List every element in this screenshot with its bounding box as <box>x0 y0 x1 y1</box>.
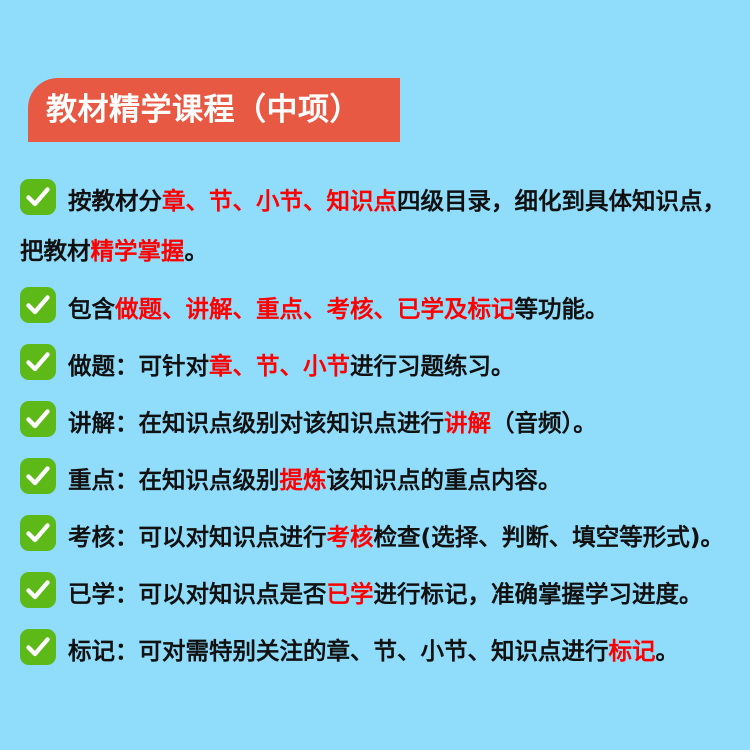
promo-card: 教材精学课程（中项） 按教材分章、节、小节、知识点四级目录，细化到具体知识点，把… <box>0 0 750 750</box>
check-icon <box>20 458 56 494</box>
check-icon <box>20 515 56 551</box>
list-item-text-line2: 把教材精学掌握。 <box>20 226 742 276</box>
list-item-text: 包含做题、讲解、重点、考核、已学及标记等功能。 <box>68 284 742 334</box>
body-text: 该知识点的重点内容。 <box>327 466 562 494</box>
highlight-text: 讲解 <box>444 409 491 437</box>
body-text: 。 <box>185 237 209 265</box>
feature-list: 按教材分章、节、小节、知识点四级目录，细化到具体知识点，把教材精学掌握。包含做题… <box>0 176 750 683</box>
highlight-text: 提炼 <box>280 466 327 494</box>
check-icon <box>20 179 56 215</box>
list-item-text: 考核：可以对知识点进行考核检查(选择、判断、填空等形式)。 <box>68 512 742 562</box>
list-item: 按教材分章、节、小节、知识点四级目录，细化到具体知识点，把教材精学掌握。 <box>0 176 750 284</box>
list-item: 包含做题、讲解、重点、考核、已学及标记等功能。 <box>0 284 750 341</box>
check-icon <box>20 287 56 323</box>
body-text: 。 <box>656 637 680 665</box>
check-icon <box>20 344 56 380</box>
list-item: 做题：可针对章、节、小节进行习题练习。 <box>0 341 750 398</box>
highlight-text: 精学掌握 <box>91 237 185 265</box>
list-item: 标记：可对需特别关注的章、节、小节、知识点进行标记。 <box>0 626 750 683</box>
highlight-text: 考核 <box>327 523 374 551</box>
body-text: 讲解：在知识点级别对该知识点进行 <box>68 409 444 437</box>
list-item-text: 做题：可针对章、节、小节进行习题练习。 <box>68 341 742 391</box>
highlight-text: 章、节、小节、知识点 <box>162 187 397 215</box>
body-text: 检查(选择、判断、填空等形式)。 <box>374 523 724 551</box>
list-item-text: 重点：在知识点级别提炼该知识点的重点内容。 <box>68 455 742 505</box>
body-text: 按教材分 <box>68 187 162 215</box>
list-item-text: 已学：可以对知识点是否已学进行标记，准确掌握学习进度。 <box>68 569 742 619</box>
list-item-text: 标记：可对需特别关注的章、节、小节、知识点进行标记。 <box>68 626 742 676</box>
list-item: 已学：可以对知识点是否已学进行标记，准确掌握学习进度。 <box>0 569 750 626</box>
body-text: 四级目录，细化到具体知识点， <box>397 187 726 215</box>
body-text: 等功能。 <box>515 295 609 323</box>
body-text: 把教材 <box>20 237 91 265</box>
body-text: 包含 <box>68 295 115 323</box>
list-item-text: 讲解：在知识点级别对该知识点进行讲解（音频）。 <box>68 398 742 448</box>
check-icon <box>20 572 56 608</box>
body-text: （音频）。 <box>491 409 597 437</box>
highlight-text: 章、节、小节 <box>209 352 350 380</box>
check-icon <box>20 401 56 437</box>
list-item: 重点：在知识点级别提炼该知识点的重点内容。 <box>0 455 750 512</box>
list-item: 考核：可以对知识点进行考核检查(选择、判断、填空等形式)。 <box>0 512 750 569</box>
highlight-text: 做题、讲解、重点、考核、已学及标记 <box>115 295 515 323</box>
body-text: 进行习题练习。 <box>350 352 515 380</box>
highlight-text: 标记 <box>609 637 656 665</box>
body-text: 标记：可对需特别关注的章、节、小节、知识点进行 <box>68 637 609 665</box>
body-text: 重点：在知识点级别 <box>68 466 280 494</box>
title-banner: 教材精学课程（中项） <box>28 78 400 142</box>
body-text: 做题：可针对 <box>68 352 209 380</box>
list-item: 讲解：在知识点级别对该知识点进行讲解（音频）。 <box>0 398 750 455</box>
check-icon <box>20 629 56 665</box>
highlight-text: 已学 <box>327 580 374 608</box>
body-text: 进行标记，准确掌握学习进度。 <box>374 580 703 608</box>
body-text: 考核：可以对知识点进行 <box>68 523 327 551</box>
body-text: 已学：可以对知识点是否 <box>68 580 327 608</box>
page-title: 教材精学课程（中项） <box>46 95 361 126</box>
list-item-text: 按教材分章、节、小节、知识点四级目录，细化到具体知识点，把教材精学掌握。 <box>68 176 742 276</box>
